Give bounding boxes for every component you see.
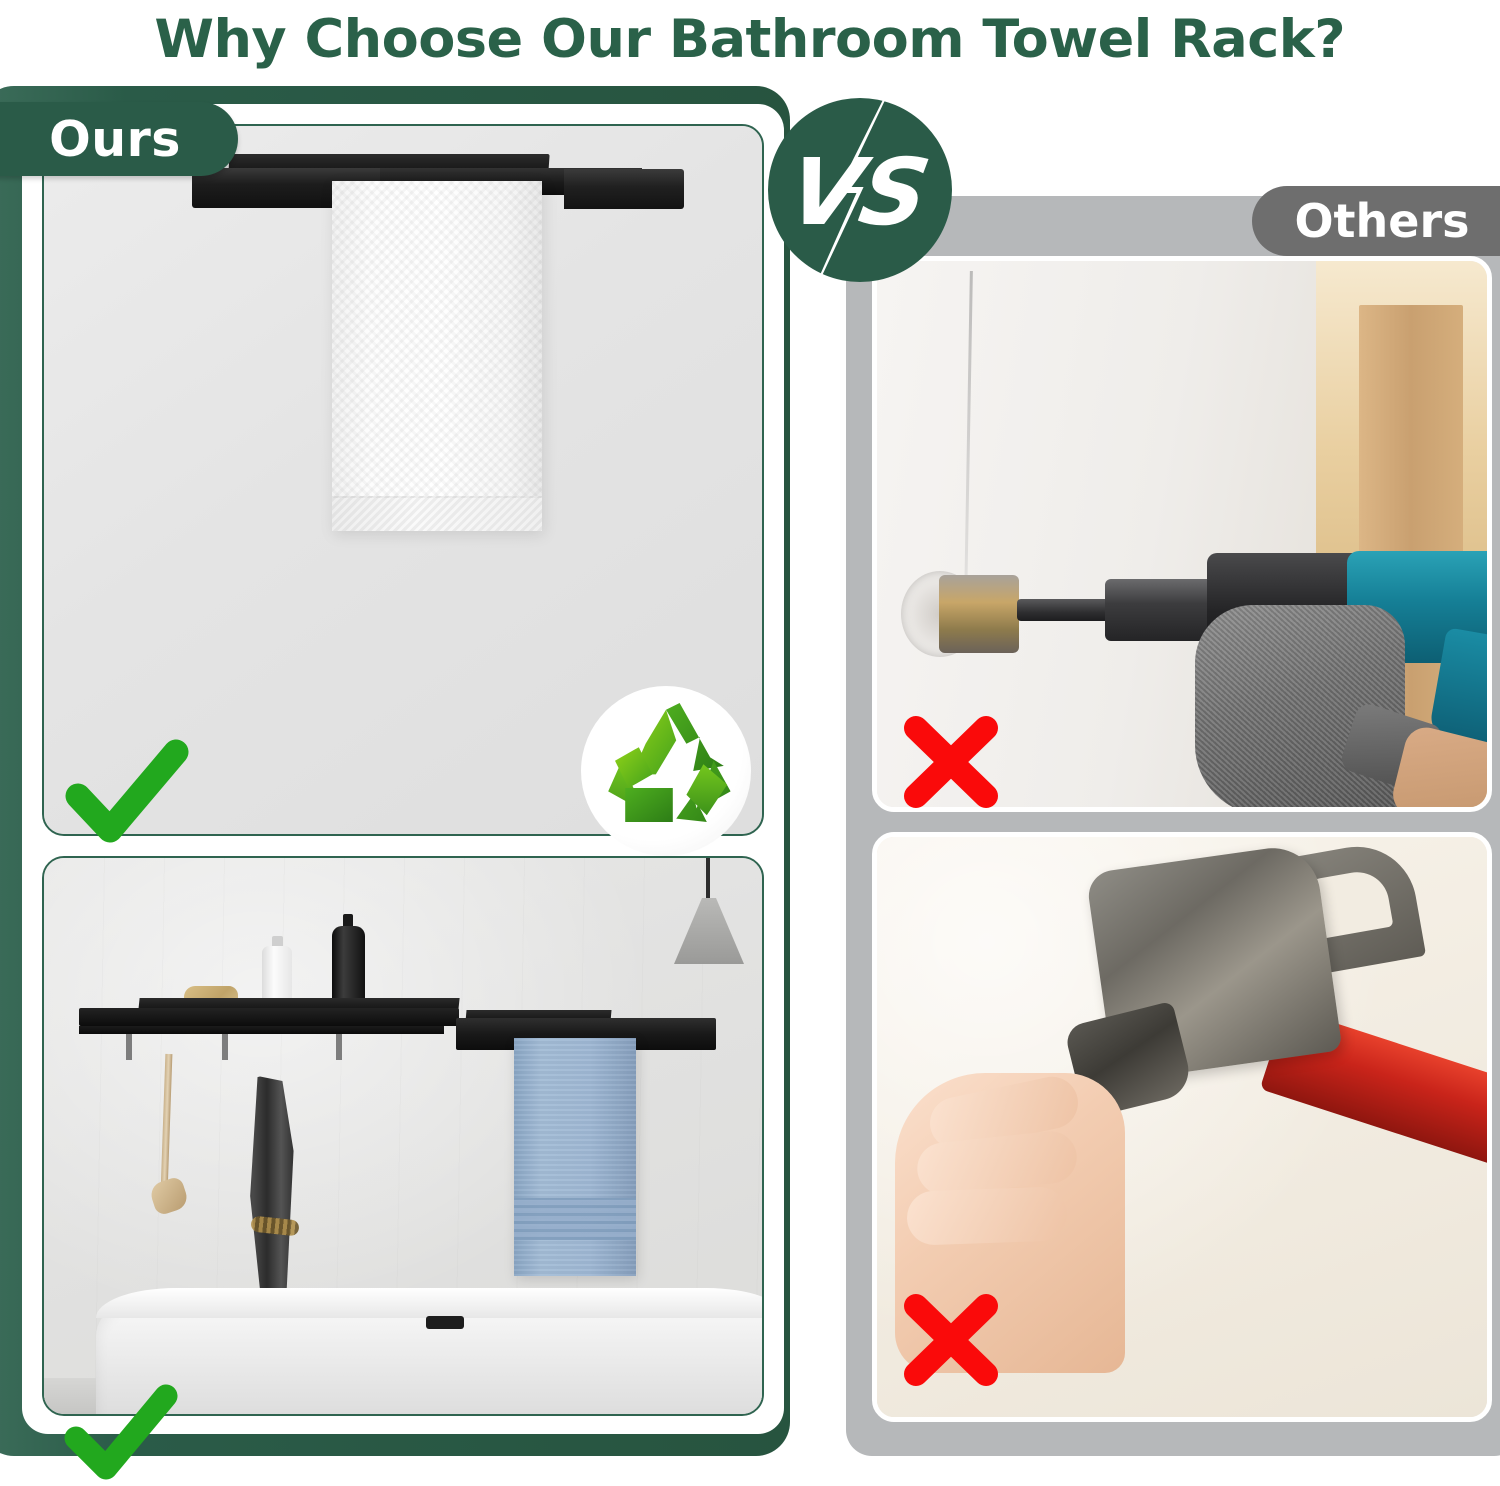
vs-badge-icon: VS: [766, 96, 954, 284]
drill-shaft: [1017, 599, 1112, 621]
core-drill-bit: [939, 575, 1019, 653]
white-towel-hem: [332, 496, 542, 531]
blue-towel: [514, 1038, 636, 1276]
blue-towel-band: [514, 1198, 636, 1240]
page-title: Why Choose Our Bathroom Towel Rack?: [155, 9, 1346, 70]
check-icon: [62, 738, 192, 850]
recycle-icon: [581, 686, 751, 856]
x-icon: [898, 712, 1004, 812]
bathroom-scene-image: [44, 858, 762, 1414]
ours-badge-label: Ours: [49, 111, 181, 168]
finger-3: [906, 1186, 1068, 1246]
vs-badge-label: VS: [781, 139, 937, 246]
hook-3: [336, 1034, 342, 1060]
others-badge-label: Others: [1294, 194, 1469, 248]
white-towel: [332, 181, 542, 531]
page-header: Why Choose Our Bathroom Towel Rack?: [0, 0, 1500, 78]
bathtub-rim: [96, 1288, 764, 1318]
pendant-lamp-cord: [706, 858, 710, 900]
recycle-icon-glyph: [581, 686, 751, 856]
check-icon: [62, 1384, 180, 1486]
black-hook-rail: [79, 1026, 444, 1034]
ours-section: Ours: [0, 86, 800, 1456]
others-section: Others: [846, 196, 1500, 1456]
drill-chuck: [1105, 579, 1217, 641]
towel-bar-right-mount: [564, 169, 684, 209]
bathtub-overflow: [426, 1316, 464, 1329]
ours-lifestyle-panel[interactable]: [42, 856, 764, 1416]
hook-1: [126, 1034, 132, 1060]
x-icon: [898, 1290, 1004, 1390]
others-badge: Others: [1252, 186, 1500, 256]
ours-badge: Ours: [0, 102, 238, 176]
black-wall-shelf: [79, 1008, 459, 1026]
hook-2: [222, 1034, 228, 1060]
svg-text:VS: VS: [781, 139, 937, 246]
